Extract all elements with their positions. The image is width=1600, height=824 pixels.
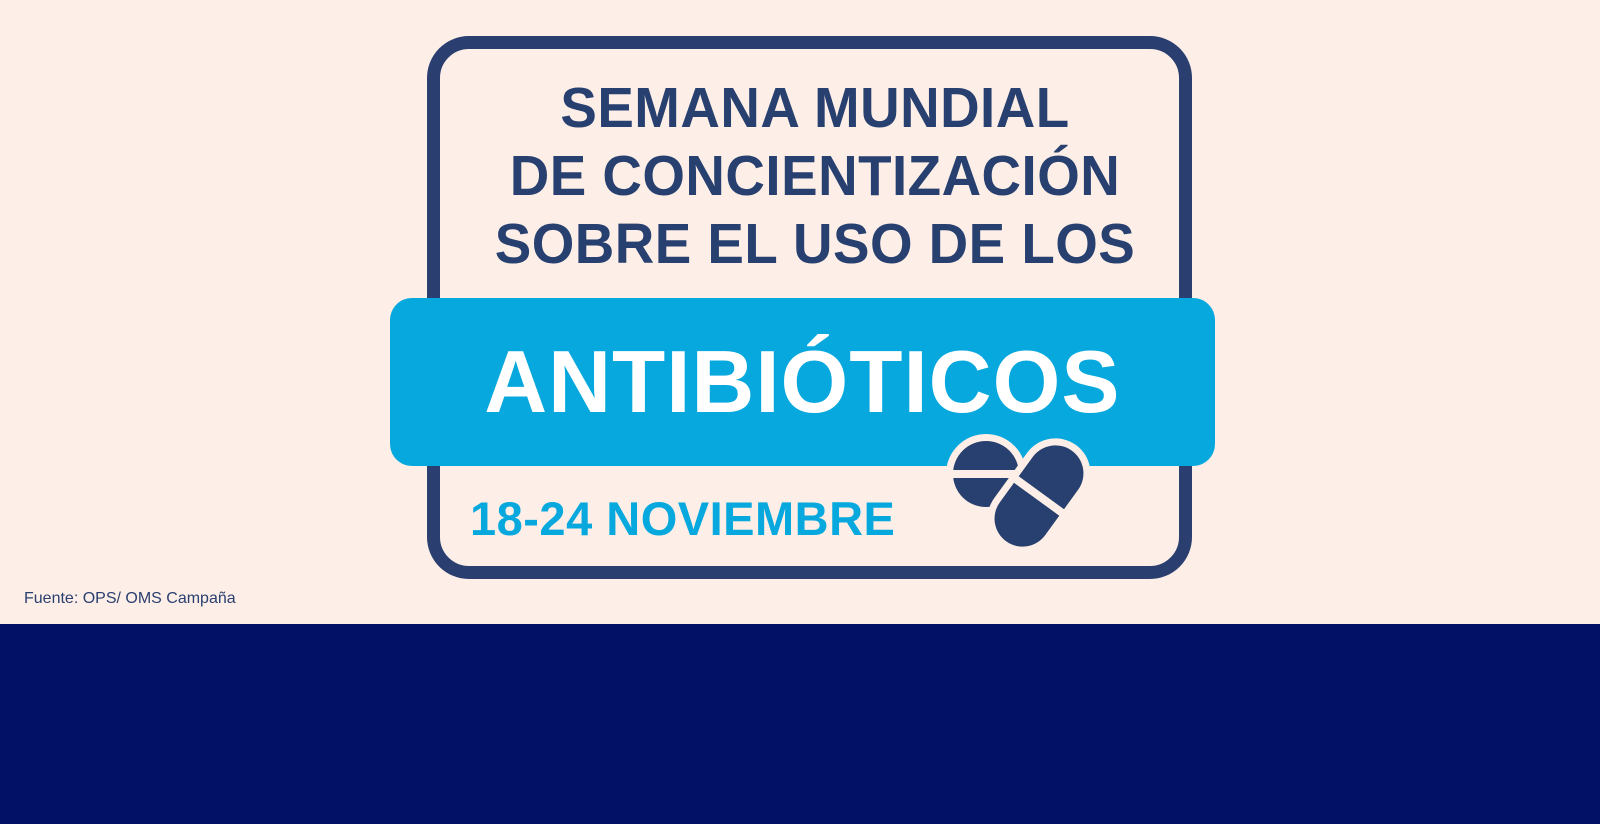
headline-line-1: SEMANA MUNDIAL [436,74,1194,142]
footer-band: PERENTEROL® Saccharomyces boulardii CNCM… [0,624,1600,824]
pills-icon [944,424,1092,560]
source-credit: Fuente: OPS/ OMS Campaña [24,589,236,609]
poster-root: SEMANA MUNDIAL DE CONCIENTIZACIÓN SOBRE … [0,0,1600,824]
banner-keyword: ANTIBIÓTICOS [484,338,1120,426]
headline-line-2: DE CONCIENTIZACIÓN [436,142,1194,210]
poster-canvas: SEMANA MUNDIAL DE CONCIENTIZACIÓN SOBRE … [0,0,1600,624]
headline-line-3: SOBRE EL USO DE LOS [436,210,1194,278]
page-title: SEMANA MUNDIAL DE CONCIENTIZACIÓN SOBRE … [436,74,1194,278]
event-date: 18-24 NOVIEMBRE [470,492,895,546]
